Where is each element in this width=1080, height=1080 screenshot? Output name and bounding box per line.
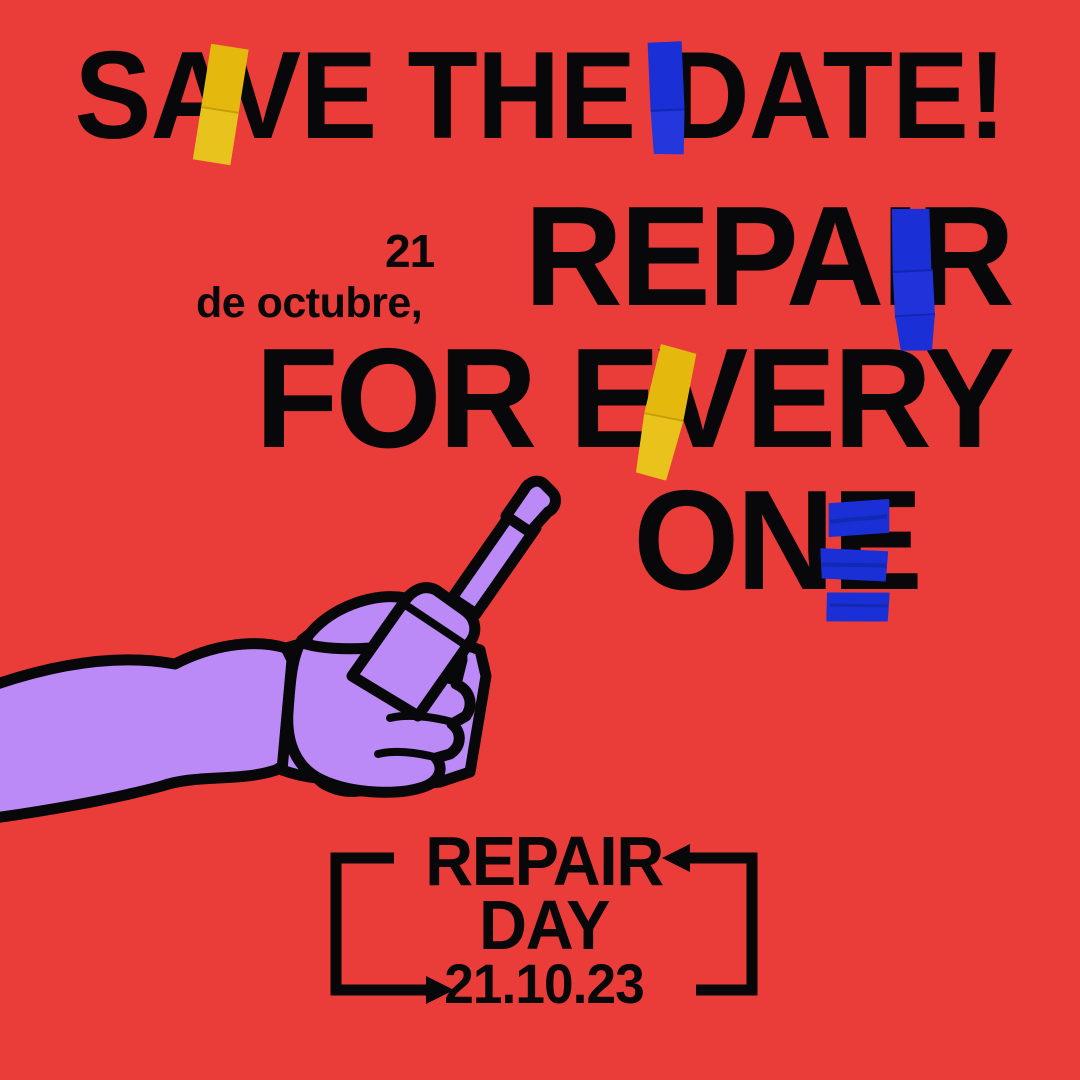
logo-line-day: DAY [329,890,758,960]
repair-day-logo-layer: REPAIR DAY 21.10.23 [0,0,1080,1080]
poster-canvas: SAVE THE DATE! 21 de octubre, REPAIR FOR… [0,0,1080,1080]
repair-day-logo: REPAIR DAY 21.10.23 [318,824,770,1014]
logo-date: 21.10.23 [329,956,758,1012]
